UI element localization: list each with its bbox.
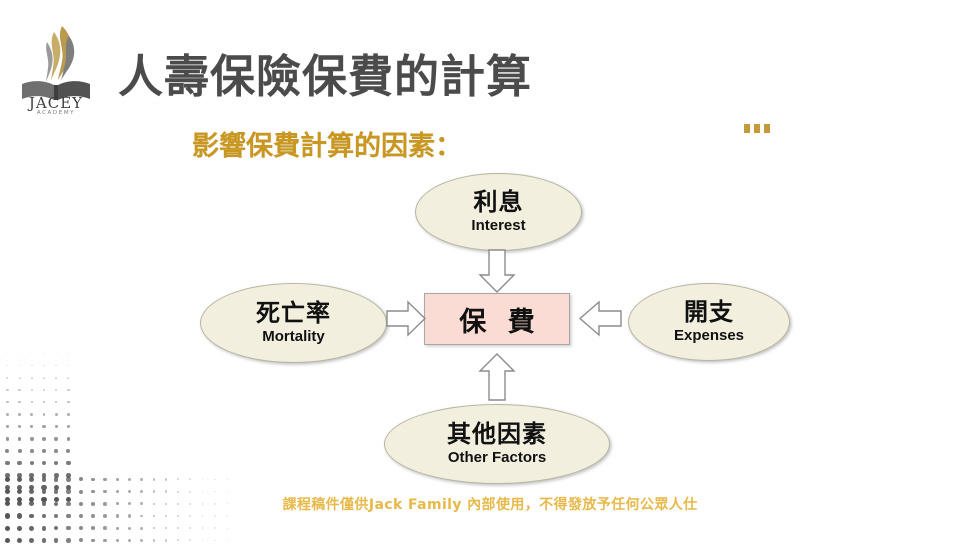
node-label-en: Mortality — [262, 328, 325, 346]
premium-factors-diagram: 利息 Interest 死亡率 Mortality 開支 Expenses 其他… — [0, 0, 980, 549]
node-label-cn: 死亡率 — [256, 300, 331, 327]
diagram-node-expenses: 開支 Expenses — [628, 283, 790, 361]
footer-disclaimer: 課程稿件僅供Jack Family 內部使用，不得發放予任何公眾人仕 — [0, 494, 980, 514]
node-label-cn: 利息 — [474, 189, 524, 216]
diagram-node-other-factors: 其他因素 Other Factors — [384, 404, 610, 484]
arrow-down-icon — [478, 249, 516, 293]
node-label-cn: 開支 — [684, 299, 734, 326]
slide-canvas: JACEY ACADEMY 人壽保險保費的計算 影響保費計算的因素： 利息 In… — [0, 0, 980, 549]
node-label-cn: 其他因素 — [447, 421, 547, 448]
node-label-en: Interest — [471, 217, 525, 235]
diagram-node-interest: 利息 Interest — [415, 173, 582, 251]
node-label-en: Expenses — [674, 327, 744, 345]
diagram-center-premium: 保 費 — [424, 293, 570, 345]
center-label-cn: 保 費 — [453, 300, 540, 339]
diagram-node-mortality: 死亡率 Mortality — [200, 283, 387, 363]
arrow-right-icon — [386, 300, 426, 337]
arrow-up-icon — [478, 352, 516, 402]
arrow-left-icon — [578, 300, 622, 337]
node-label-en: Other Factors — [448, 449, 546, 467]
